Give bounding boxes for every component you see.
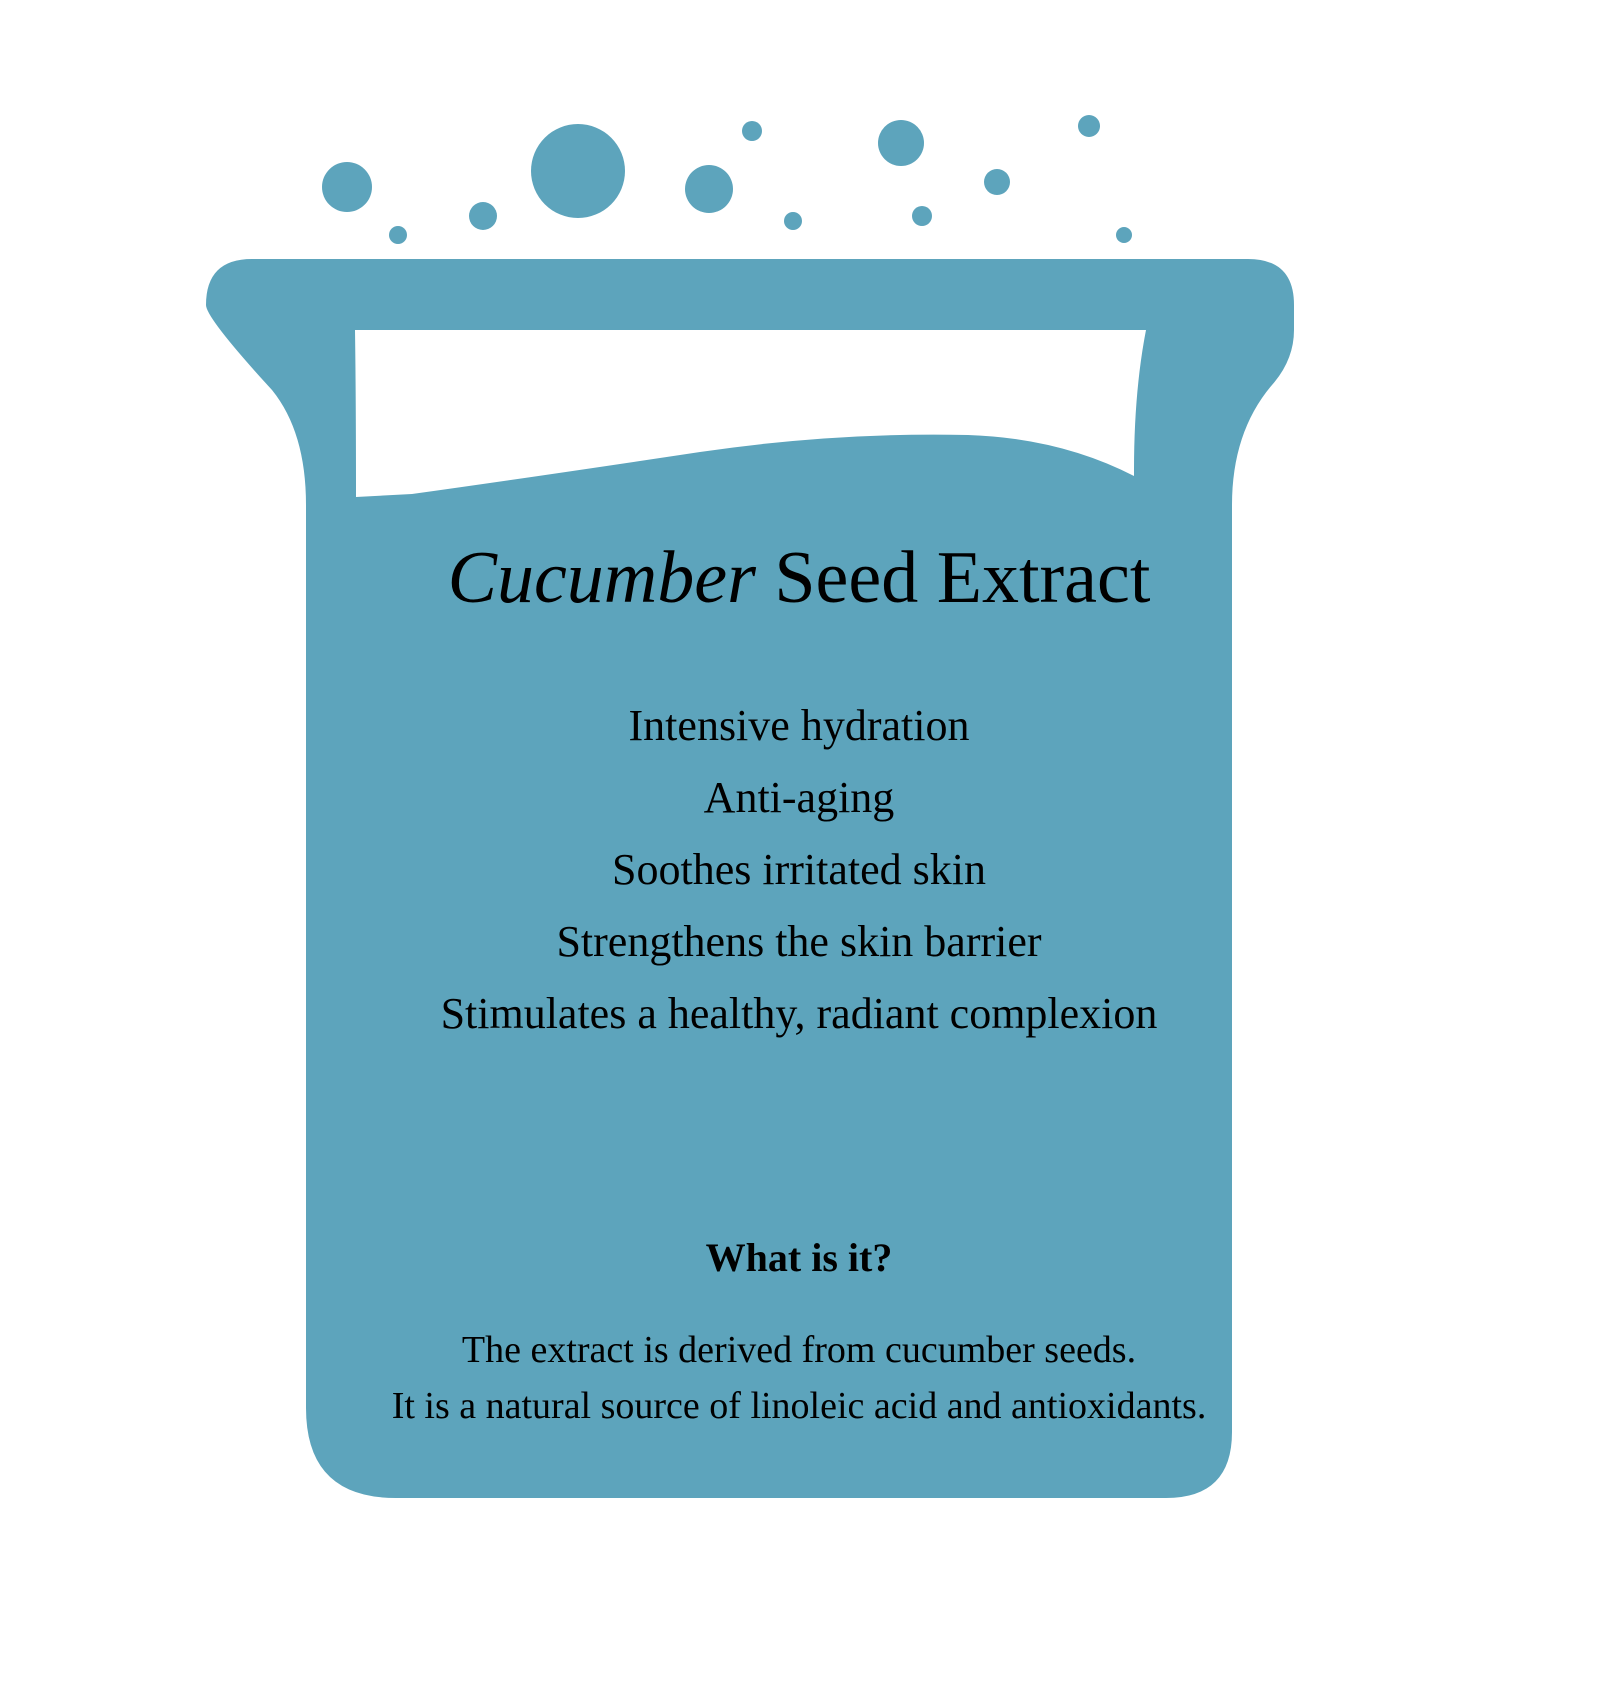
- bubble: [984, 169, 1010, 195]
- infographic-poster: Cucumber Seed Extract Intensive hydratio…: [0, 0, 1598, 1698]
- bubble: [322, 162, 372, 212]
- bubble: [784, 212, 802, 230]
- bubble: [1116, 227, 1132, 243]
- bubble: [389, 226, 407, 244]
- description-block: The extract is derived from cucumber see…: [0, 1322, 1598, 1434]
- benefit-item: Intensive hydration: [0, 690, 1598, 762]
- title-italic-word: Cucumber: [448, 537, 756, 619]
- bubble: [742, 121, 762, 141]
- description-line: It is a natural source of linoleic acid …: [0, 1378, 1598, 1434]
- bubble: [685, 165, 733, 213]
- description-line: The extract is derived from cucumber see…: [0, 1322, 1598, 1378]
- bubble: [469, 202, 497, 230]
- bubble: [878, 120, 924, 166]
- bubble: [1078, 115, 1100, 137]
- title-roman-words: Seed Extract: [756, 537, 1151, 619]
- benefit-item: Stimulates a healthy, radiant complexion: [0, 978, 1598, 1050]
- bubble-group: [322, 115, 1132, 244]
- what-is-it-heading: What is it?: [0, 1234, 1598, 1282]
- page-title: Cucumber Seed Extract: [0, 535, 1598, 621]
- benefit-item: Strengthens the skin barrier: [0, 906, 1598, 978]
- benefit-item: Soothes irritated skin: [0, 834, 1598, 906]
- benefits-list: Intensive hydration Anti-aging Soothes i…: [0, 690, 1598, 1050]
- bubble: [531, 124, 625, 218]
- benefit-item: Anti-aging: [0, 762, 1598, 834]
- bubble: [912, 206, 932, 226]
